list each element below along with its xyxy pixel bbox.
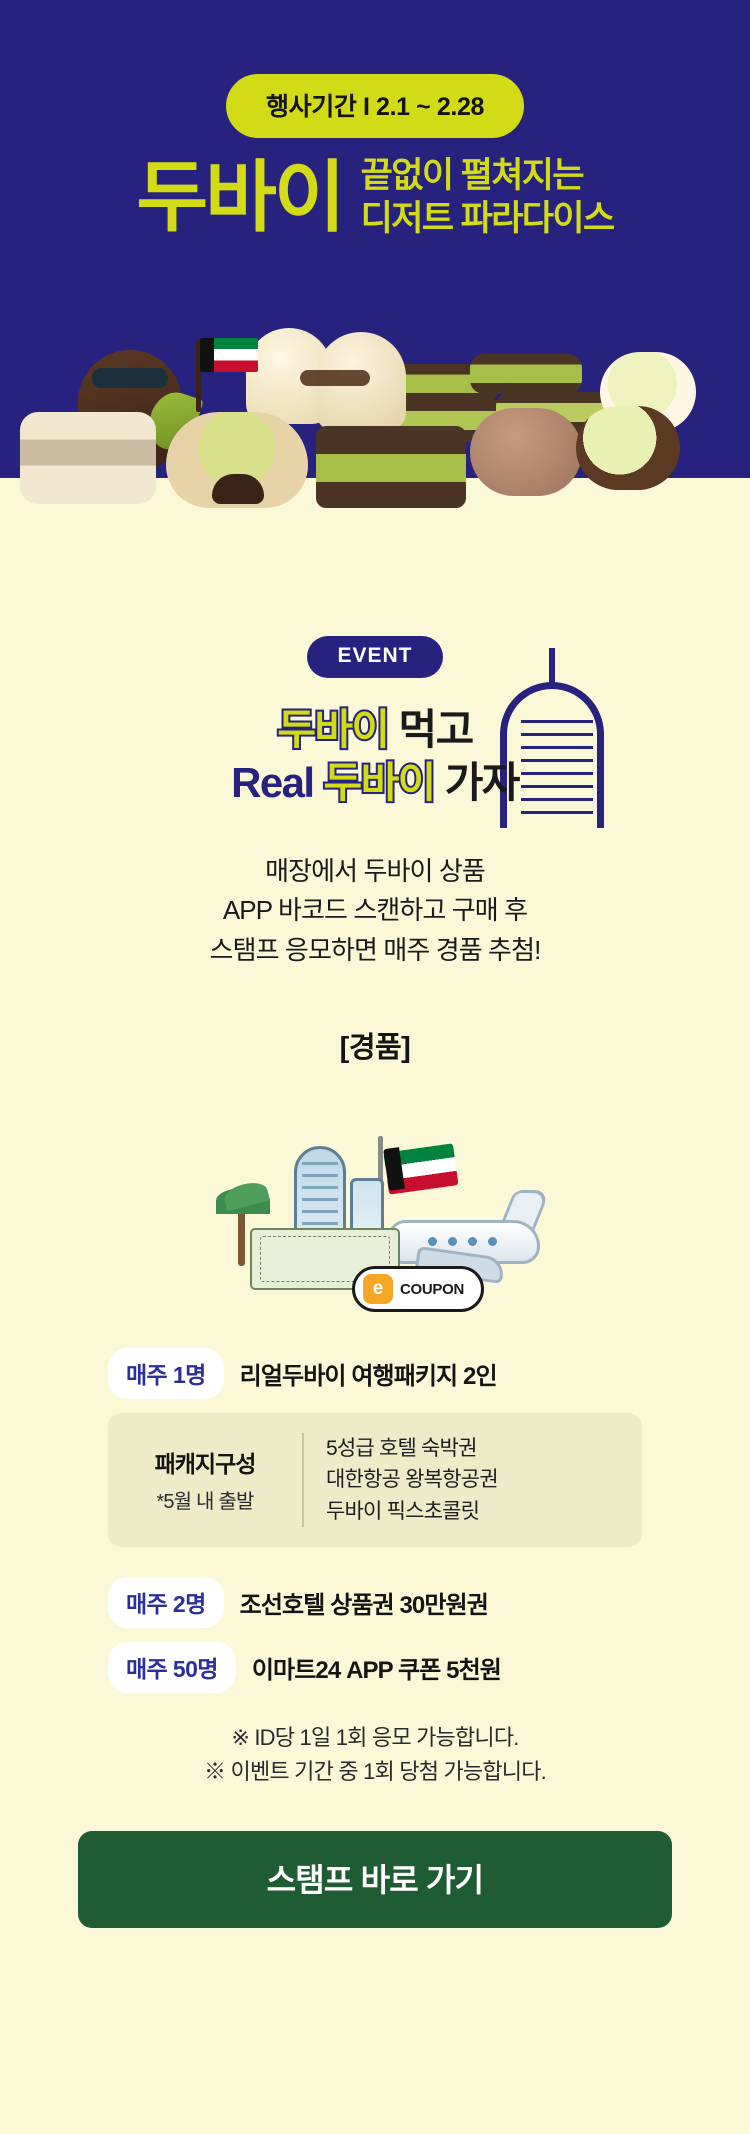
event-body: EVENT 두바이 먹고 Real 두바이 가자 매장에서 두바이 상품 APP… [0,636,750,1968]
coupon-e-icon: e [363,1274,393,1304]
slogan-line-1: 두바이 먹고 [0,704,750,757]
note-line-2: ※ 이벤트 기간 중 1회 당첨 가능합니다. [0,1755,750,1789]
prize-list: 매주 1명 리얼두바이 여행패키지 2인 [0,1348,750,1399]
prize-name: 조선호텔 상품권 30만원권 [240,1585,488,1620]
slogan-word-real: Real [231,759,313,806]
prize-list-secondary: 매주 2명 조선호텔 상품권 30만원권 매주 50명 이마트24 APP 쿠폰… [0,1577,750,1693]
slogan-word-eat: 먹고 [399,706,473,753]
pistachio-cake-icon [470,354,582,394]
chocolate-drizzle-icon [300,370,370,386]
package-note: *5월 내 출발 [130,1485,280,1514]
event-period-badge: 행사기간 I 2.1 ~ 2.28 [226,74,524,138]
package-divider [302,1433,304,1526]
cream-sandwich-icon [20,412,156,504]
dessert-collage-image [0,270,750,600]
go-to-stamp-button[interactable]: 스탬프 바로 가기 [78,1831,672,1928]
description-line-2: APP 바코드 스캔하고 구매 후 [0,891,750,931]
description-line-3: 스탬프 응모하면 매주 경품 추첨! [0,931,750,971]
prize-row: 매주 2명 조선호텔 상품권 30만원권 [108,1577,642,1628]
package-label-group: 패캐지구성 *5월 내 출발 [130,1445,280,1514]
prize-illustration: e COUPON [210,1088,540,1318]
event-description: 매장에서 두바이 상품 APP 바코드 스캔하고 구매 후 스탬프 응모하면 매… [0,852,750,971]
hero-banner: 행사기간 I 2.1 ~ 2.28 두바이 끝없이 펼쳐지는 디저트 파라다이스 [0,0,750,600]
package-items: 5성급 호텔 숙박권 대한항공 왕복항공권 두바이 픽스초콜릿 [326,1433,498,1526]
prize-name: 리얼두바이 여행패키지 2인 [240,1356,497,1391]
slogan-highlight-dubai-2: 두바이 [324,759,435,806]
pistachio-mochi-cut-icon [576,406,680,490]
prize-name: 이마트24 APP 쿠폰 5천원 [252,1650,501,1685]
hero-subtitle-line1: 끝없이 펼쳐지는 [361,155,614,198]
prize-row: 매주 50명 이마트24 APP 쿠폰 5천원 [108,1642,642,1693]
package-details-box: 패캐지구성 *5월 내 출발 5성급 호텔 숙박권 대한항공 왕복항공권 두바이… [108,1413,642,1546]
slogan-word-go: 가자 [445,759,519,806]
note-line-1: ※ ID당 1일 1회 응모 가능합니다. [0,1721,750,1755]
e-coupon-badge: e COUPON [352,1266,484,1312]
slogan-line-2: Real 두바이 가자 [0,757,750,810]
hero-subtitle-line2: 디저트 파라다이스 [361,198,614,241]
package-item: 두바이 픽스초콜릿 [326,1496,498,1527]
hero-title: 두바이 끝없이 펼쳐지는 디저트 파라다이스 [0,155,750,240]
slogan-highlight-dubai: 두바이 [277,706,388,753]
cocoa-mochi-icon [470,408,582,496]
uae-flag-bar-icon [200,338,214,372]
chocolate-core-icon [212,474,264,504]
prize-row: 매주 1명 리얼두바이 여행패키지 2인 [108,1348,642,1399]
package-item: 대한항공 왕복항공권 [326,1464,498,1495]
prize-section-heading: [경품] [0,1024,750,1066]
event-slogan: 두바이 먹고 Real 두바이 가자 [0,704,750,810]
prize-count-badge: 매주 2명 [108,1577,224,1628]
hero-brand-text: 두바이 [136,159,342,235]
chocolate-sandwich-icon [316,426,466,508]
sunglasses-icon [92,368,168,388]
promo-page: 행사기간 I 2.1 ~ 2.28 두바이 끝없이 펼쳐지는 디저트 파라다이스 [0,0,750,2134]
package-title: 패캐지구성 [130,1445,280,1479]
package-item: 5성급 호텔 숙박권 [326,1433,498,1464]
event-badge: EVENT [307,636,443,678]
description-line-1: 매장에서 두바이 상품 [0,852,750,892]
prize-count-badge: 매주 50명 [108,1642,236,1693]
event-notes: ※ ID당 1일 1회 응모 가능합니다. ※ 이벤트 기간 중 1회 당첨 가… [0,1721,750,1789]
hero-subtitle: 끝없이 펼쳐지는 디저트 파라다이스 [361,155,614,240]
coupon-label: COUPON [400,1281,464,1298]
prize-count-badge: 매주 1명 [108,1348,224,1399]
